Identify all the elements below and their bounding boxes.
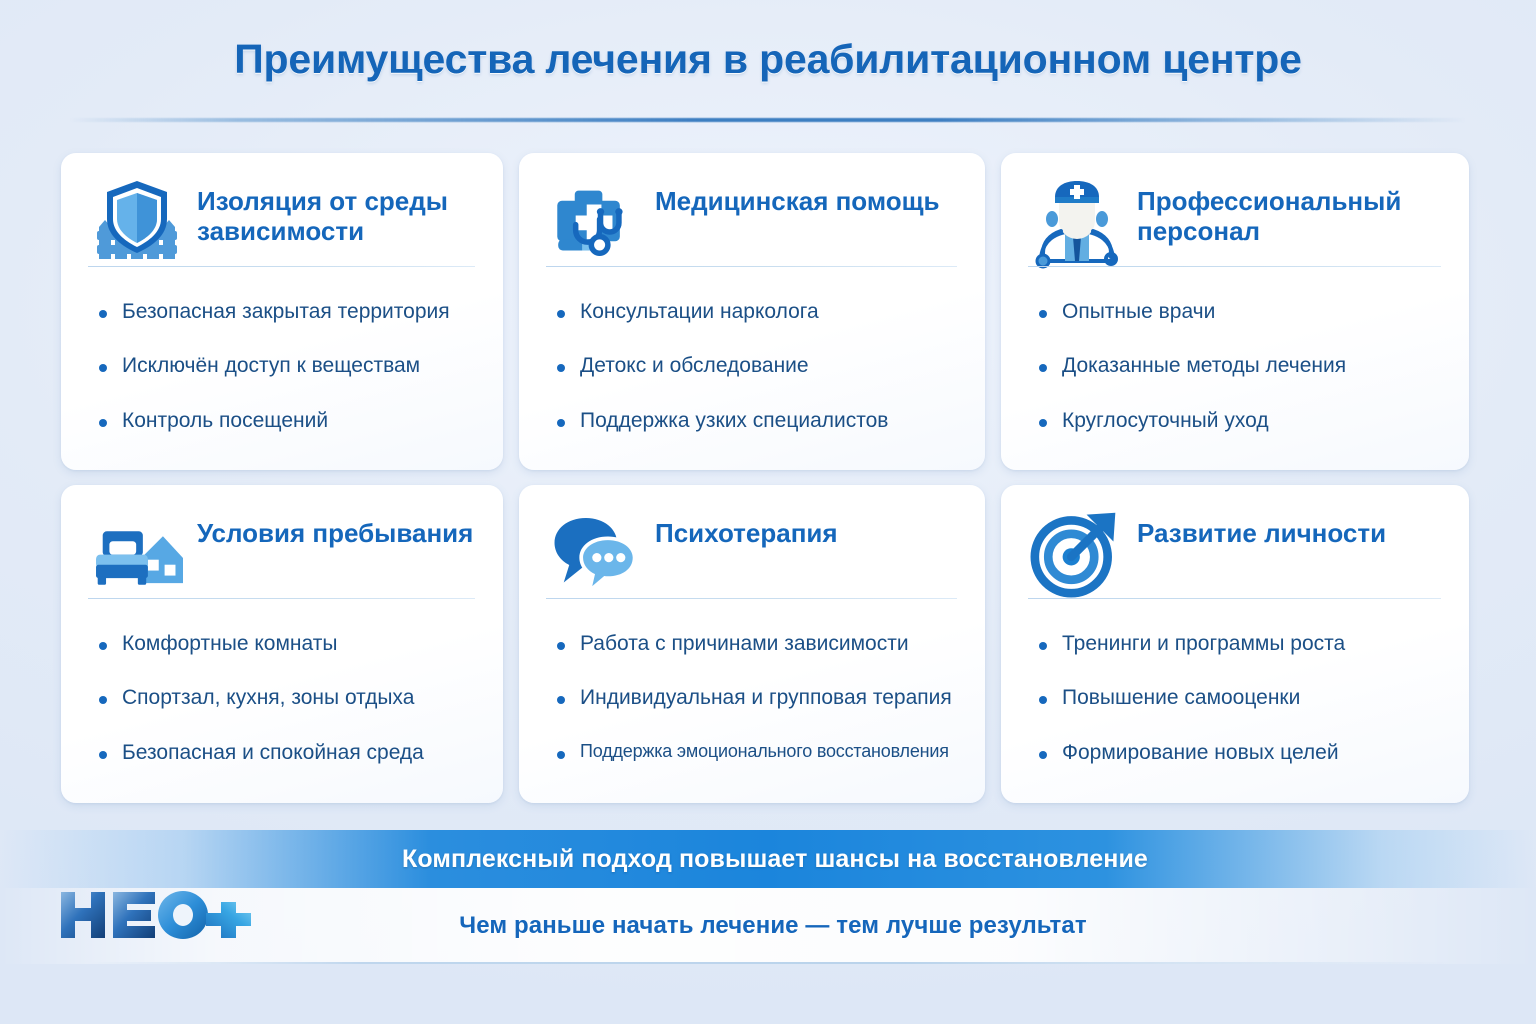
benefit-list: Безопасная закрытая территория Исключён … [61, 273, 503, 434]
list-item: Детокс и обследование [555, 353, 961, 379]
list-item: Формирование новых целей [1037, 740, 1445, 766]
list-item: Исключён доступ к веществам [97, 353, 479, 379]
footer-banner: Комплексный подход повышает шансы на вос… [0, 830, 1536, 888]
card-header: Психотерапия [519, 485, 985, 605]
list-item: Контроль посещений [97, 408, 479, 434]
card-title-rule [519, 266, 985, 267]
list-item: Доказанные методы лечения [1037, 353, 1445, 379]
benefits-grid: Изоляция от среды зависимости Безопасная… [61, 153, 1475, 803]
list-item: Работа с причинами зависимости [555, 631, 961, 657]
card-header: Условия пребывания [61, 485, 503, 605]
list-item: Спортзал, кухня, зоны отдыха [97, 685, 479, 711]
card-title: Развитие личности [1137, 509, 1386, 548]
card-title-rule [61, 266, 503, 267]
benefit-card-psychotherapy[interactable]: Психотерапия Работа с причинами зависимо… [519, 485, 985, 803]
card-header: Медицинская помощь [519, 153, 985, 273]
card-title: Профессиональный персонал [1137, 177, 1443, 246]
list-item: Тренинги и программы роста [1037, 631, 1445, 657]
benefit-card-isolation[interactable]: Изоляция от среды зависимости Безопасная… [61, 153, 503, 470]
list-item: Безопасная закрытая территория [97, 299, 479, 325]
footer-banner-text: Комплексный подход повышает шансы на вос… [402, 845, 1148, 874]
card-header: Изоляция от среды зависимости [61, 153, 503, 273]
medical-bag-stethoscope-icon [549, 175, 641, 267]
card-title: Психотерапия [655, 509, 838, 548]
list-item: Круглосуточный уход [1037, 408, 1445, 434]
card-title-rule [1001, 266, 1469, 267]
shield-fence-icon [91, 175, 183, 267]
doctor-icon [1031, 175, 1123, 267]
footer-rule [90, 962, 1450, 964]
list-item: Комфортные комнаты [97, 631, 479, 657]
card-title: Медицинская помощь [655, 177, 940, 216]
list-item: Опытные врачи [1037, 299, 1445, 325]
list-item: Индивидуальная и групповая терапия [555, 685, 961, 711]
footer-subbanner-text: Чем раньше начать лечение — тем лучше ре… [459, 912, 1086, 940]
card-title-rule [1001, 598, 1469, 599]
benefit-card-personal-growth[interactable]: Развитие личности Тренинги и программы р… [1001, 485, 1469, 803]
card-header: Развитие личности [1001, 485, 1469, 605]
benefit-list: Работа с причинами зависимости Индивидуа… [519, 605, 985, 762]
bed-house-icon [91, 507, 183, 599]
speech-bubbles-icon [549, 507, 641, 599]
target-arrow-icon [1031, 507, 1123, 599]
benefit-list: Консультации нарколога Детокс и обследов… [519, 273, 985, 434]
list-item: Консультации нарколога [555, 299, 961, 325]
card-title: Условия пребывания [197, 509, 473, 548]
benefit-list: Тренинги и программы роста Повышение сам… [1001, 605, 1469, 766]
page-header: Преимущества лечения в реабилитационном … [0, 36, 1536, 83]
card-title-rule [519, 598, 985, 599]
card-title-rule [61, 598, 503, 599]
neo-plus-logo [55, 884, 255, 946]
list-item: Повышение самооценки [1037, 685, 1445, 711]
list-item: Поддержка узких специалистов [555, 408, 961, 434]
benefit-card-professional-staff[interactable]: Профессиональный персонал Опытные врачи … [1001, 153, 1469, 470]
list-item: Поддержка эмоционального восстановления [555, 740, 961, 763]
benefit-card-medical-help[interactable]: Медицинская помощь Консультации нарколог… [519, 153, 985, 470]
benefit-list: Комфортные комнаты Спортзал, кухня, зоны… [61, 605, 503, 766]
page-title: Преимущества лечения в реабилитационном … [0, 36, 1536, 83]
header-divider [70, 118, 1466, 122]
benefit-list: Опытные врачи Доказанные методы лечения … [1001, 273, 1469, 434]
card-title: Изоляция от среды зависимости [197, 177, 477, 246]
card-header: Профессиональный персонал [1001, 153, 1469, 273]
list-item: Безопасная и спокойная среда [97, 740, 479, 766]
benefit-card-accommodation[interactable]: Условия пребывания Комфортные комнаты Сп… [61, 485, 503, 803]
